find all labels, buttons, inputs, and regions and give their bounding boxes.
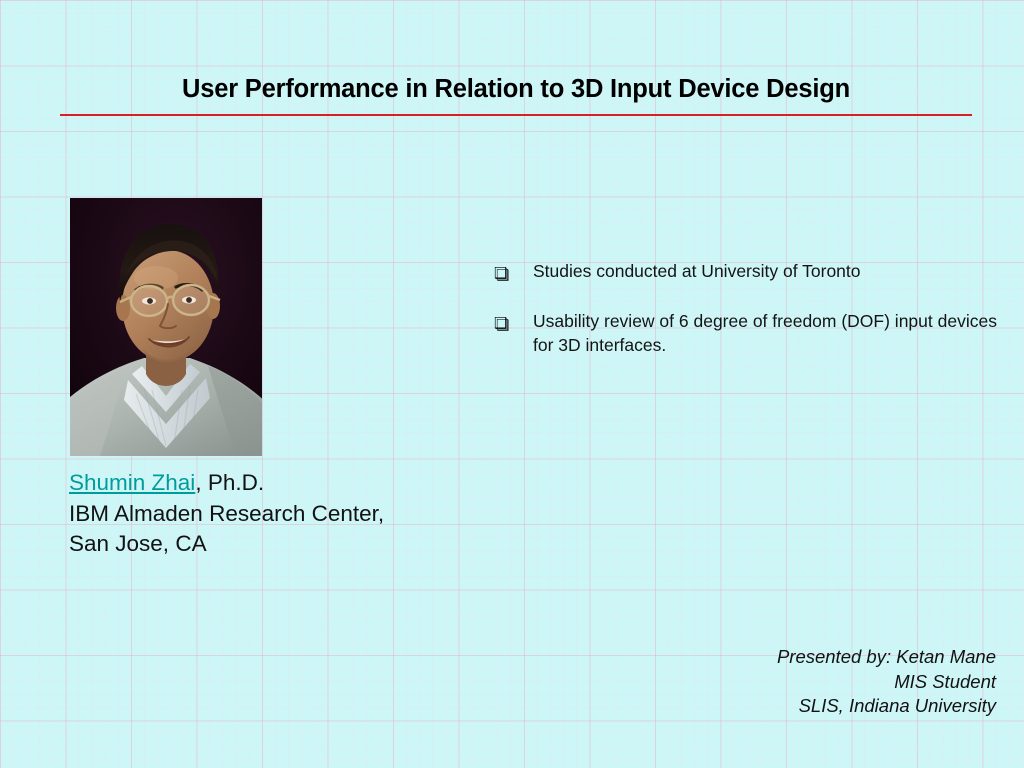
author-location: San Jose, CA	[69, 529, 489, 560]
list-item-label: Usability review of 6 degree of freedom …	[533, 310, 1004, 357]
title-block: User Performance in Relation to 3D Input…	[60, 74, 972, 104]
square-bullet-icon: ❑	[494, 310, 533, 336]
list-item-label: Studies conducted at University of Toron…	[533, 260, 1004, 284]
presenter-school-line: SLIS, Indiana University	[540, 694, 996, 719]
list-item: ❑ Studies conducted at University of Tor…	[494, 260, 1004, 286]
presentation-slide: User Performance in Relation to 3D Input…	[0, 0, 1024, 768]
title-divider-rule	[60, 114, 972, 116]
author-name-line: Shumin Zhai, Ph.D.	[69, 468, 489, 499]
author-degree: , Ph.D.	[195, 470, 264, 495]
portrait-photo	[70, 198, 262, 456]
author-affiliation: IBM Almaden Research Center,	[69, 499, 489, 530]
square-bullet-icon: ❑	[494, 260, 533, 286]
bullet-list: ❑ Studies conducted at University of Tor…	[494, 260, 1004, 357]
presenter-role-line: MIS Student	[540, 670, 996, 695]
author-block: Shumin Zhai, Ph.D. IBM Almaden Research …	[69, 468, 489, 560]
person-photo-icon	[70, 198, 262, 456]
presenter-credit: Presented by: Ketan Mane MIS Student SLI…	[540, 645, 996, 719]
presenter-name-line: Presented by: Ketan Mane	[540, 645, 996, 670]
list-item: ❑ Usability review of 6 degree of freedo…	[494, 310, 1004, 357]
author-link[interactable]: Shumin Zhai	[69, 470, 195, 495]
page-title: User Performance in Relation to 3D Input…	[60, 74, 972, 104]
